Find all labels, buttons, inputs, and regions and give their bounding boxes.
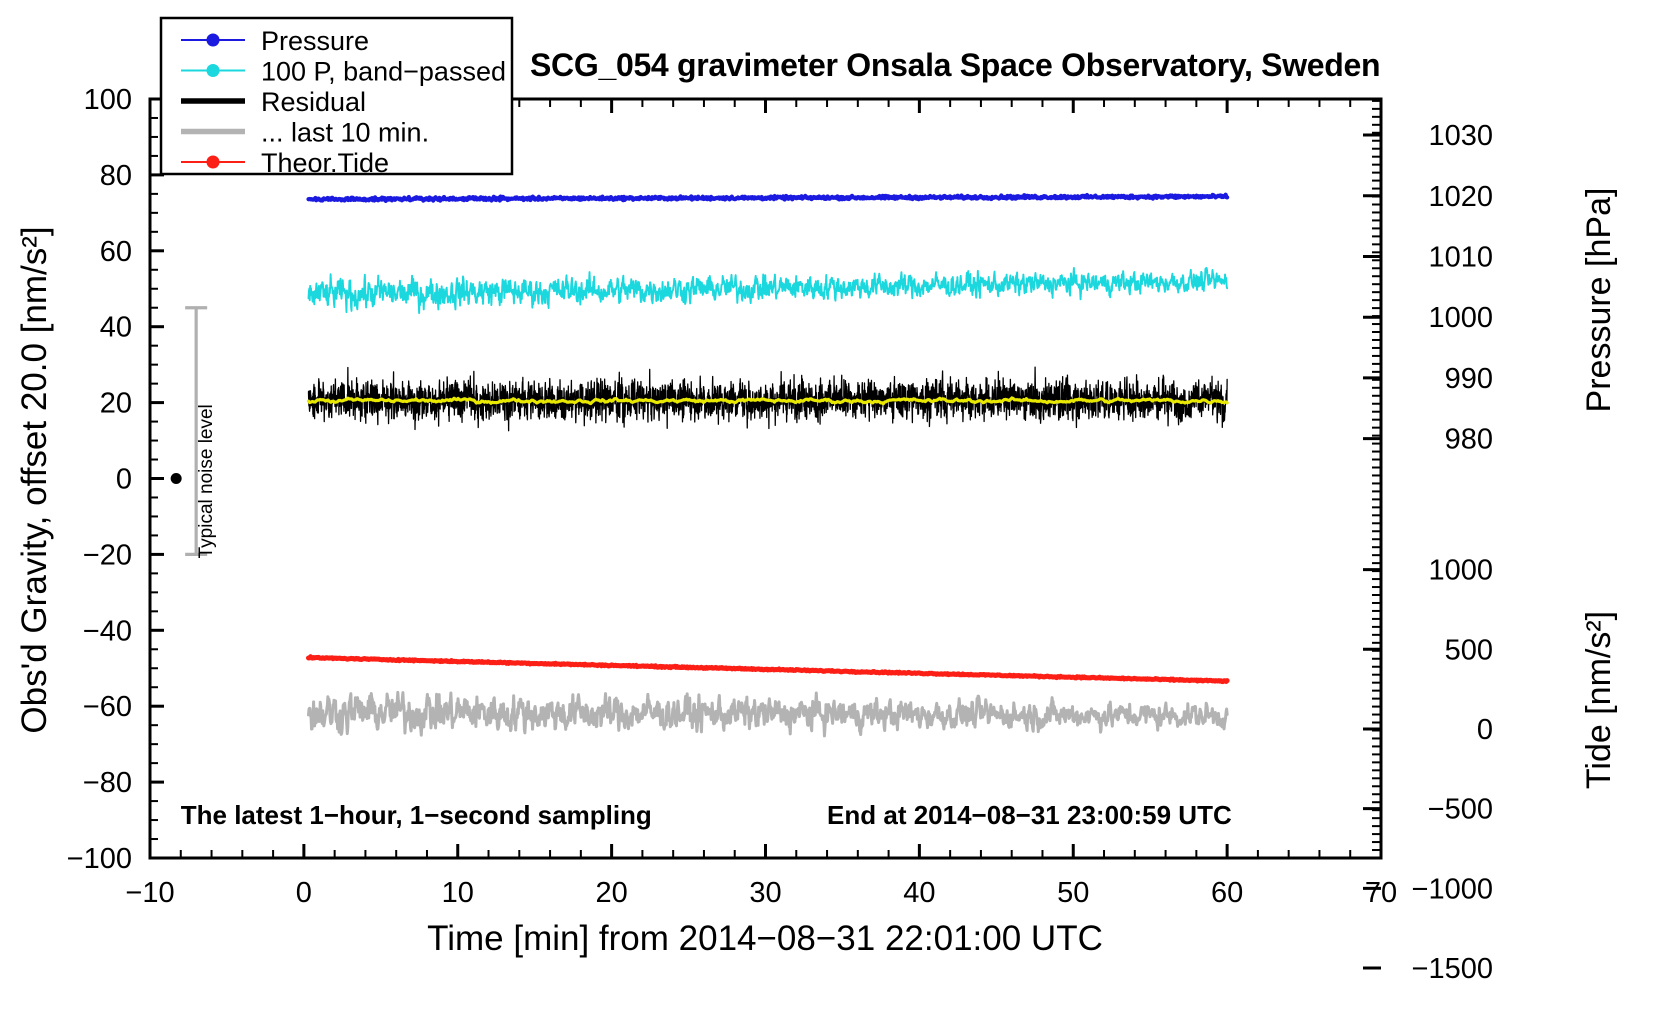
y-tick-label: 100	[84, 84, 132, 116]
bottom-left-note: The latest 1−hour, 1−second sampling	[181, 800, 652, 830]
pressure-tick-label: 1020	[1428, 181, 1493, 213]
y-tick-label: −40	[83, 615, 132, 647]
legend-label: Pressure	[261, 26, 369, 56]
legend-label: ... last 10 min.	[261, 118, 429, 148]
tide-tick-label: 500	[1445, 634, 1493, 666]
noise-ref-point	[171, 473, 182, 484]
y-tick-label: 0	[116, 464, 132, 496]
legend-label: Residual	[261, 87, 366, 117]
y-tick-label: 80	[100, 160, 132, 192]
legend-label: Theor.Tide	[261, 148, 389, 178]
legend-marker-circle	[207, 64, 220, 77]
x-tick-label: 30	[749, 877, 781, 909]
y-tick-label: 60	[100, 236, 132, 268]
y-tick-label: −100	[67, 843, 132, 875]
legend-label: 100 P, band−passed	[261, 57, 506, 87]
y-tick-label: −80	[83, 767, 132, 799]
bottom-right-note: End at 2014−08−31 23:00:59 UTC	[827, 800, 1232, 830]
tide-tick-label: −1500	[1412, 953, 1493, 985]
pressure-tick-label: 990	[1445, 363, 1493, 395]
tide-axis-title: Tide [nm/s²]	[1580, 611, 1618, 789]
y-tick-label: −20	[83, 539, 132, 571]
x-tick-label: 50	[1057, 877, 1089, 909]
x-tick-label: 20	[595, 877, 627, 909]
noise-level-label: Typical noise level	[196, 404, 217, 558]
pressure-tick-label: 1000	[1428, 302, 1493, 334]
chart-page: Typical noise level −1001020304050607010…	[0, 0, 1660, 1020]
tide-tick-label: 0	[1477, 714, 1493, 746]
chart-title: SCG_054 gravimeter Onsala Space Observat…	[530, 47, 1380, 83]
legend-marker-circle	[207, 156, 220, 169]
tide-tick-label: −1000	[1412, 873, 1493, 905]
x-tick-label: 60	[1211, 877, 1243, 909]
y-tick-label: −60	[83, 691, 132, 723]
pressure-tick-label: 980	[1445, 424, 1493, 456]
x-tick-label: 70	[1365, 877, 1397, 909]
x-axis-title: Time [min] from 2014−08−31 22:01:00 UTC	[427, 919, 1103, 958]
y-tick-label: 40	[100, 312, 132, 344]
tide-tick-label: −500	[1428, 794, 1493, 826]
y-tick-label: 20	[100, 388, 132, 420]
legend-marker-circle	[207, 34, 220, 47]
x-tick-label: 0	[296, 877, 312, 909]
x-tick-label: 10	[442, 877, 474, 909]
tide-tick-label: 1000	[1428, 555, 1493, 587]
gravimeter-chart: Typical noise level −1001020304050607010…	[0, 0, 1660, 1020]
x-tick-label: −10	[125, 877, 174, 909]
pressure-axis-title: Pressure [hPa]	[1580, 188, 1618, 413]
pressure-tick-label: 1010	[1428, 241, 1493, 273]
y-axis-title: Obs'd Gravity, offset 20.0 [nm/s²]	[15, 226, 54, 733]
x-tick-label: 40	[903, 877, 935, 909]
pressure-tick-label: 1030	[1428, 120, 1493, 152]
